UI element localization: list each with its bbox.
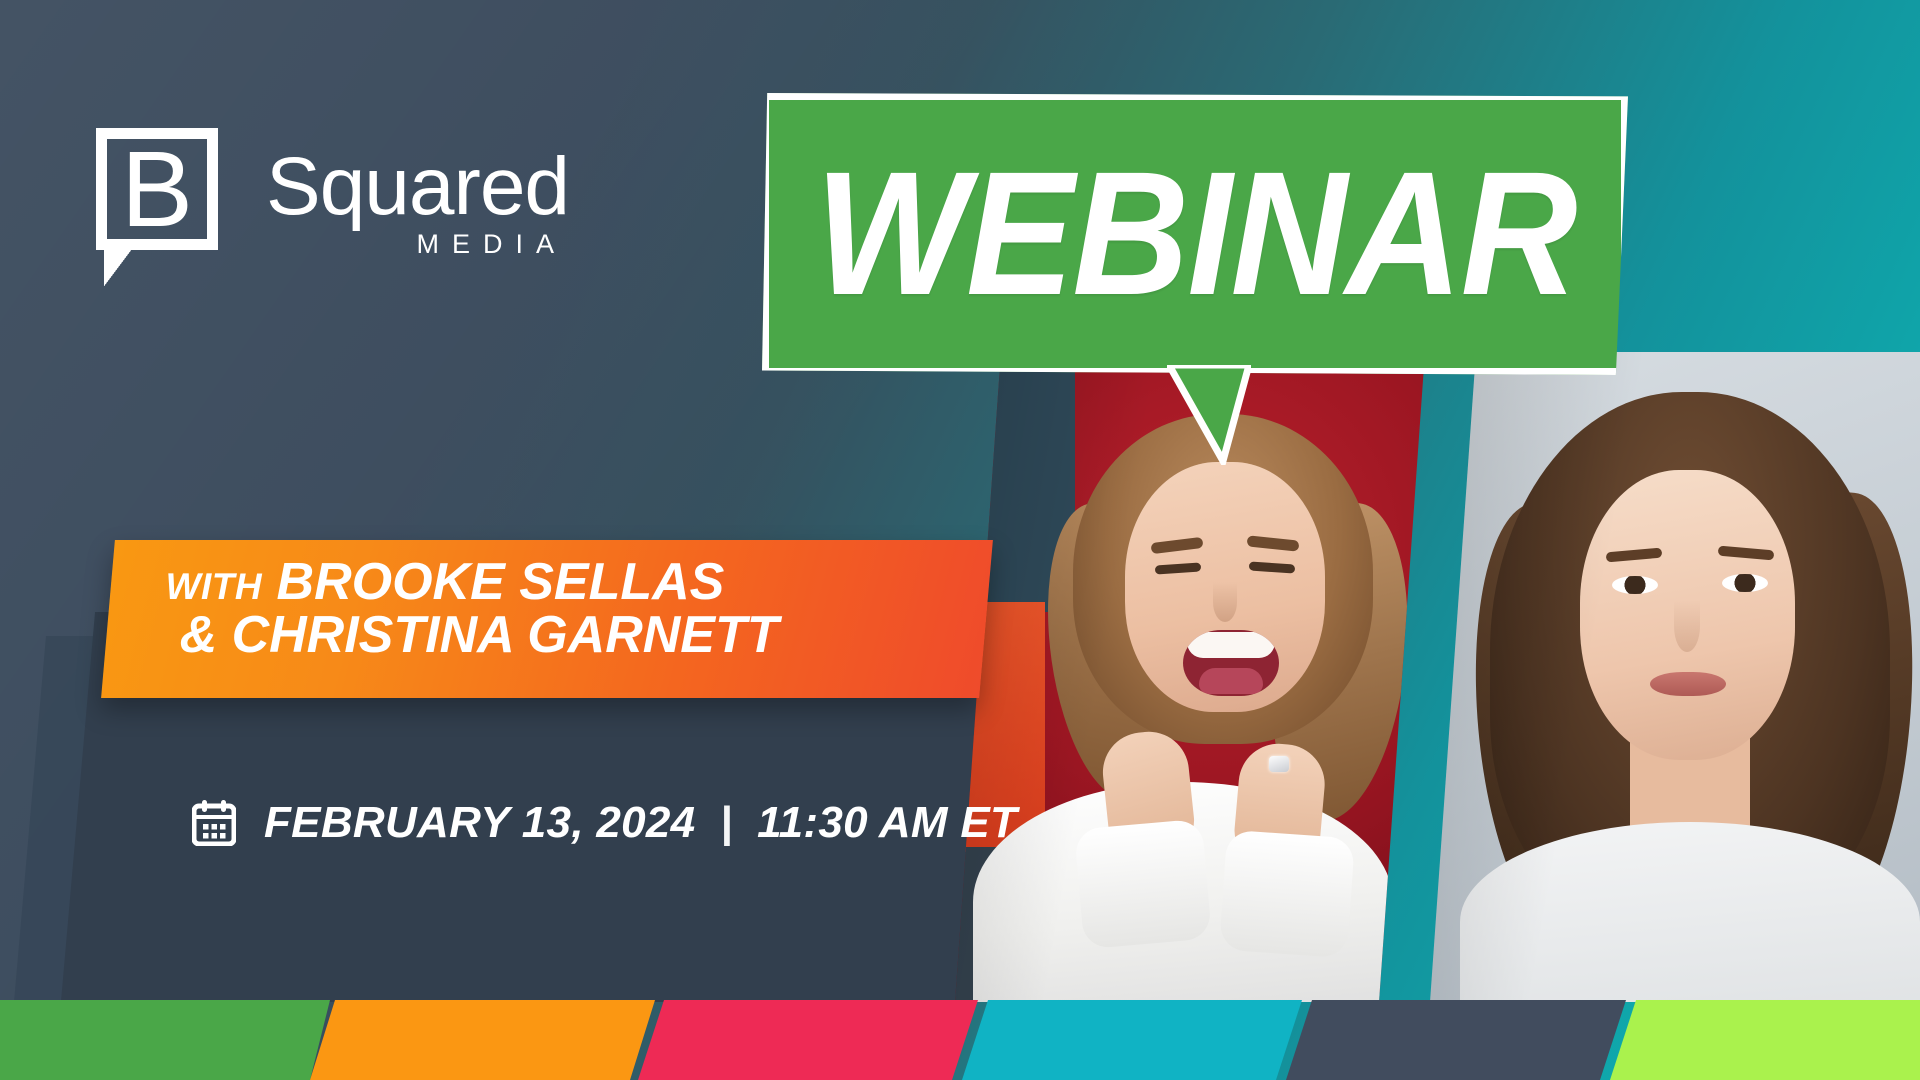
- footer-color-bar: [0, 1000, 1920, 1080]
- event-time: 11:30 AM ET: [757, 798, 1017, 847]
- speech-bubble-square-icon: B: [96, 128, 236, 286]
- webinar-headline: WEBINAR: [815, 146, 1576, 322]
- footer-segment-1: [0, 1000, 330, 1080]
- schedule-separator: |: [708, 798, 745, 847]
- webinar-promo-graphic: B Squared MEDIA WEBINAR WITH BROOKE SELL…: [0, 0, 1920, 1080]
- brand-logo: B Squared MEDIA: [96, 128, 569, 286]
- footer-segment-6: [1610, 1000, 1920, 1080]
- calendar-icon: [192, 800, 236, 846]
- footer-segment-5: [1286, 1000, 1626, 1080]
- footer-segment-2: [310, 1000, 655, 1080]
- footer-segment-4: [962, 1000, 1302, 1080]
- event-date: FEBRUARY 13, 2024: [264, 798, 695, 847]
- schedule-row: FEBRUARY 13, 2024 | 11:30 AM ET: [192, 798, 1017, 848]
- brand-subtitle: MEDIA: [266, 229, 569, 260]
- logo-letter: B: [96, 128, 218, 250]
- speech-bubble-tail-icon: [1167, 365, 1251, 465]
- photo-christina-garnett: [1430, 352, 1920, 1002]
- footer-segment-3: [638, 1000, 978, 1080]
- brand-name: Squared: [266, 148, 569, 227]
- speakers-banner: WITH BROOKE SELLAS & CHRISTINA GARNETT: [101, 540, 993, 698]
- speaker-name-secondary: & CHRISTINA GARNETT: [166, 609, 988, 662]
- speaker-name-primary: BROOKE SELLAS: [277, 553, 725, 611]
- webinar-badge: WEBINAR: [762, 93, 1628, 375]
- speakers-prefix: WITH: [166, 566, 263, 607]
